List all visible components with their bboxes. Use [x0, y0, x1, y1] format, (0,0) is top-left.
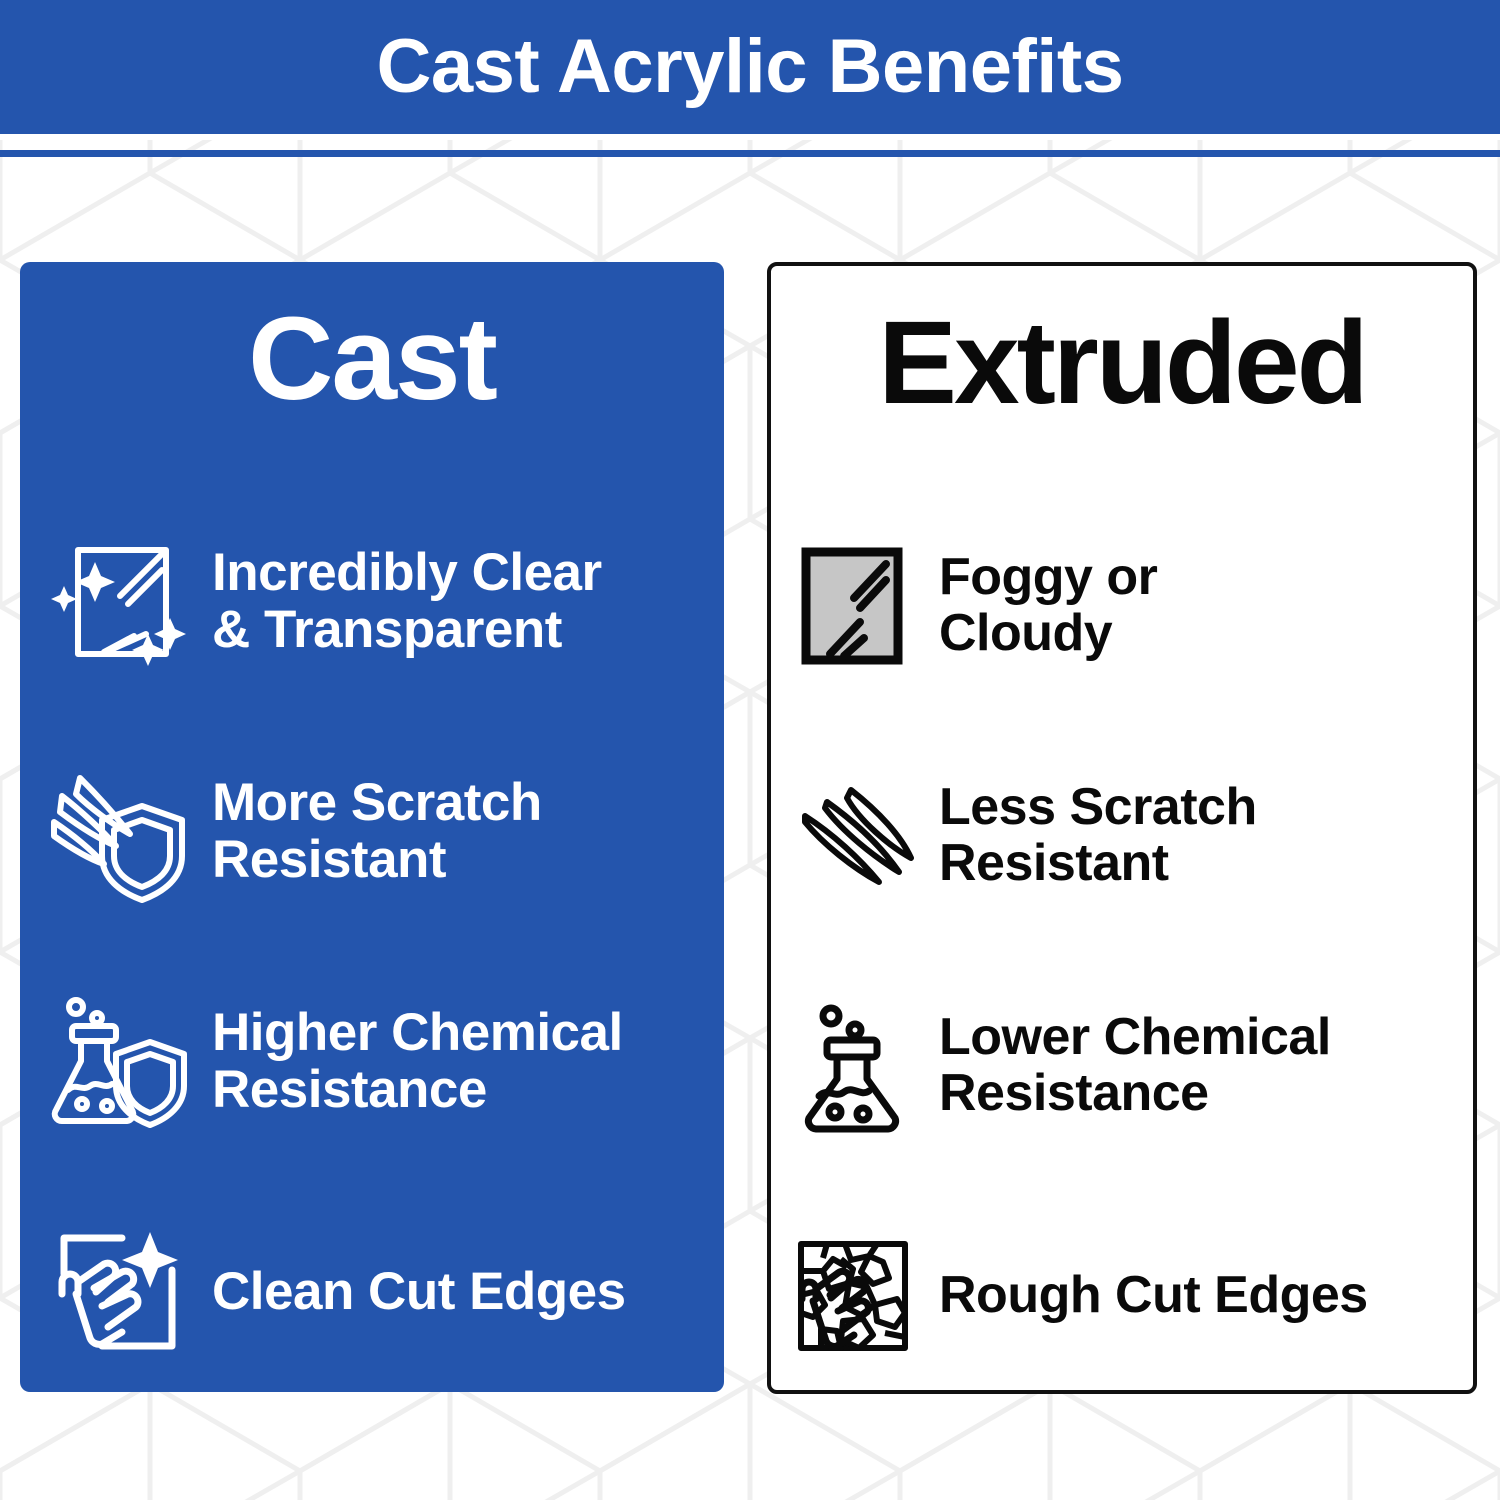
- benefit-row: Higher ChemicalResistance: [50, 972, 706, 1152]
- comparison-column-extruded: Extruded Foggy orCloudy: [767, 262, 1477, 1394]
- benefit-list-extruded: Foggy orCloudy Less ScratchResistant: [771, 516, 1473, 1390]
- benefit-list-cast: Incredibly Clear& Transparent: [20, 512, 724, 1392]
- benefit-row: More ScratchResistant: [50, 742, 706, 922]
- clear-glass-sparkle-icon: [50, 534, 186, 670]
- flask-icon: [793, 1006, 913, 1126]
- benefit-row: Less ScratchResistant: [793, 746, 1459, 926]
- benefit-label: Lower ChemicalResistance: [939, 1010, 1331, 1121]
- benefit-label: Foggy orCloudy: [939, 550, 1157, 661]
- benefit-label: Incredibly Clear& Transparent: [212, 545, 602, 658]
- column-title-cast: Cast: [20, 300, 724, 418]
- comparison-container: Cast: [0, 0, 1500, 1500]
- scratch-marks-icon: [793, 776, 913, 896]
- benefit-row: Rough Cut Edges: [793, 1206, 1459, 1386]
- benefit-label: Rough Cut Edges: [939, 1268, 1368, 1324]
- flask-shield-icon: [50, 994, 186, 1130]
- benefit-row: Lower ChemicalResistance: [793, 976, 1459, 1156]
- scratch-shield-icon: [50, 764, 186, 900]
- benefit-row: Incredibly Clear& Transparent: [50, 512, 706, 692]
- benefit-label: Higher ChemicalResistance: [212, 1005, 623, 1118]
- benefit-row: Clean Cut Edges: [50, 1202, 706, 1382]
- page-header-bar: Cast Acrylic Benefits: [0, 0, 1500, 134]
- benefit-label: Less ScratchResistant: [939, 780, 1257, 891]
- benefit-row: Foggy orCloudy: [793, 516, 1459, 696]
- comparison-column-cast: Cast: [20, 262, 724, 1392]
- clean-cut-edge-icon: [50, 1224, 186, 1360]
- foggy-glass-icon: [793, 546, 913, 666]
- header-divider-rule: [0, 150, 1500, 157]
- benefit-label: More ScratchResistant: [212, 775, 542, 888]
- benefit-label: Clean Cut Edges: [212, 1264, 626, 1321]
- rough-cut-edge-icon: [793, 1236, 913, 1356]
- column-title-extruded: Extruded: [771, 304, 1473, 422]
- page-title: Cast Acrylic Benefits: [377, 29, 1124, 105]
